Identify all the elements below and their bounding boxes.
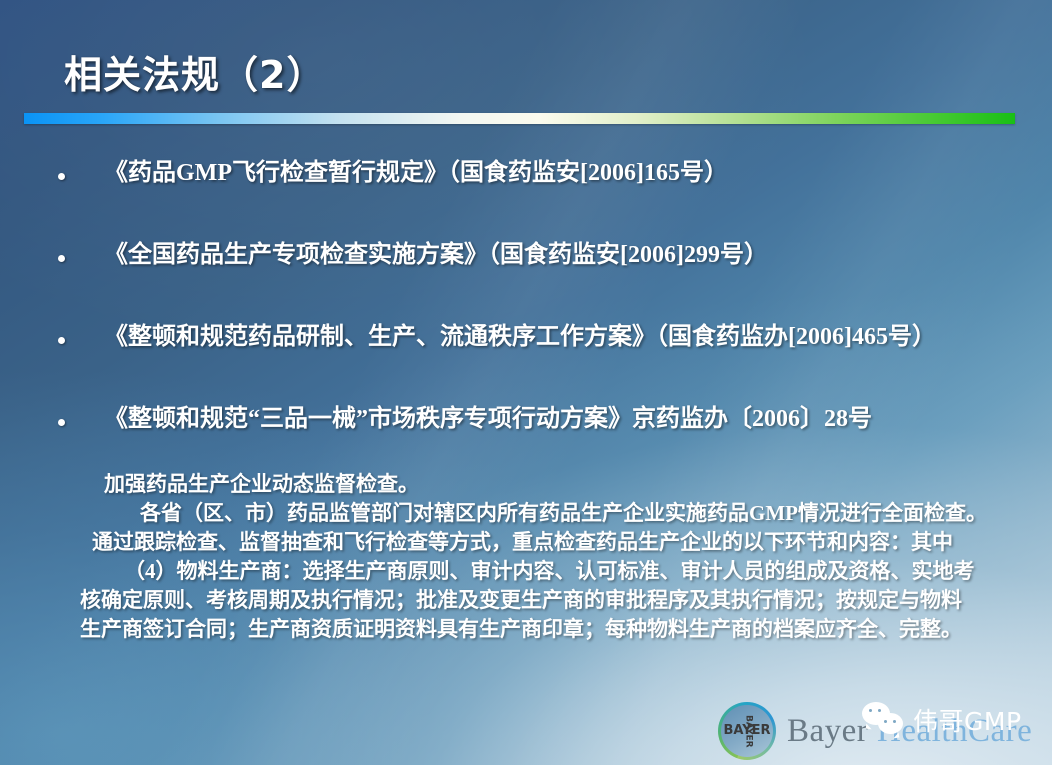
body-paragraph-a: 加强药品生产企业动态监督检查。 各省（区、市）药品监管部门对辖区内所有药品生产企… <box>0 470 1052 557</box>
list-item: 《药品GMP飞行检查暂行规定》（国食药监安[2006]165号） <box>0 156 1052 238</box>
bullet-marker-icon <box>58 419 65 426</box>
paragraph-line: 各省（区、市）药品监管部门对辖区内所有药品生产企业实施药品GMP情况进行全面检查… <box>0 499 1052 528</box>
page-title: 相关法规（2） <box>64 44 325 99</box>
list-item-label: 《整顿和规范药品研制、生产、流通秩序工作方案》（国食药监办[2006]465号） <box>104 320 936 354</box>
paragraph-line: 加强药品生产企业动态监督检查。 <box>0 470 1052 499</box>
bullet-marker-icon <box>58 255 65 262</box>
list-item: 《整顿和规范药品研制、生产、流通秩序工作方案》（国食药监办[2006]465号） <box>0 320 1052 402</box>
paragraph-line: 核确定原则、考核周期及执行情况；批准及变更生产商的审批程序及其执行情况；按规定与… <box>0 586 1052 615</box>
watermark-label: 伟哥GMP <box>913 702 1022 738</box>
body-paragraph-b: （4）物料生产商：选择生产商原则、审计内容、认可标准、审计人员的组成及资格、实地… <box>0 557 1052 644</box>
title-divider <box>24 113 1015 124</box>
bullet-list: 《药品GMP飞行检查暂行规定》（国食药监安[2006]165号） 《全国药品生产… <box>0 156 1052 484</box>
bayer-logo-icon: BAYER BAYER <box>718 702 776 760</box>
paragraph-line: 通过跟踪检查、监督抽查和飞行检查等方式，重点检查药品生产企业的以下环节和内容：其… <box>0 528 1052 557</box>
list-item-label: 《药品GMP飞行检查暂行规定》（国食药监安[2006]165号） <box>104 156 728 190</box>
wechat-bubble-small <box>878 713 903 734</box>
bullet-marker-icon <box>58 337 65 344</box>
bayer-brand-text: Bayer <box>787 713 868 749</box>
paragraph-line: 生产商签订合同；生产商资质证明资料具有生产商印章；每种物料生产商的档案应齐全、完… <box>0 615 1052 644</box>
list-item-label: 《整顿和规范“三品一械”市场秩序专项行动方案》京药监办〔2006〕28号 <box>104 402 872 436</box>
slide-canvas: 相关法规（2） 《药品GMP飞行检查暂行规定》（国食药监安[2006]165号）… <box>0 0 1052 765</box>
wechat-watermark: 伟哥GMP <box>862 702 1022 738</box>
bullet-marker-icon <box>58 173 65 180</box>
bayer-cross-horizontal: BAYER <box>718 724 776 737</box>
wechat-icon <box>862 702 906 738</box>
list-item: 《全国药品生产专项检查实施方案》（国食药监安[2006]299号） <box>0 238 1052 320</box>
paragraph-line: （4）物料生产商：选择生产商原则、审计内容、认可标准、审计人员的组成及资格、实地… <box>0 557 1052 586</box>
list-item-label: 《全国药品生产专项检查实施方案》（国食药监安[2006]299号） <box>104 238 768 272</box>
